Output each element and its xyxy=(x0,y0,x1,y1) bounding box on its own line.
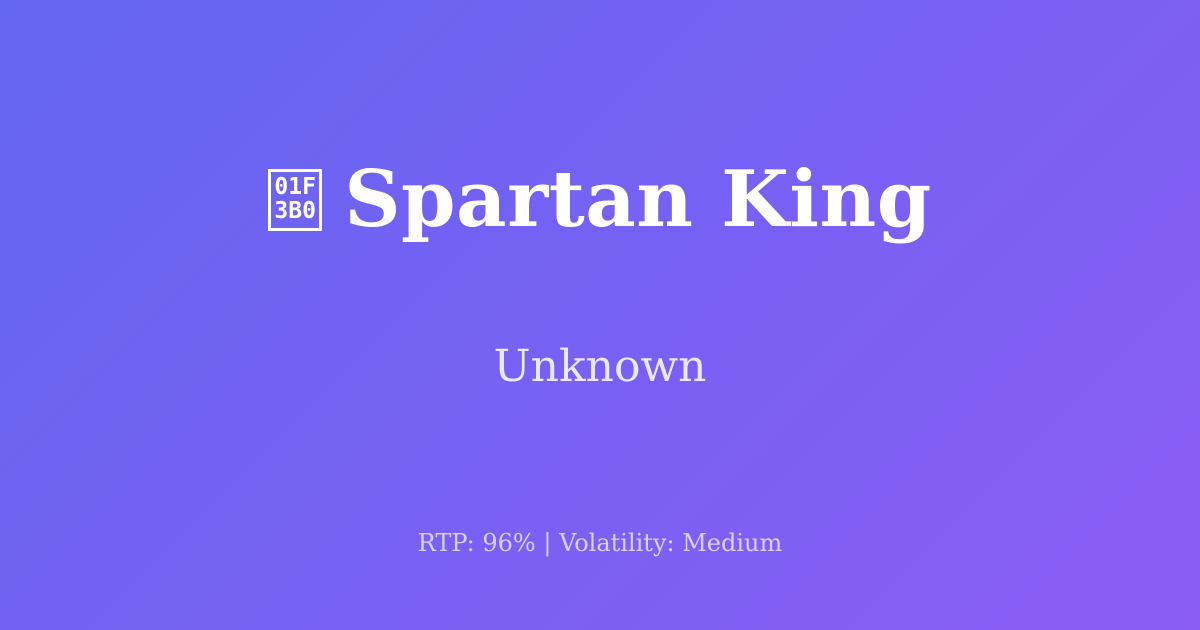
slot-machine-icon-codepoint-high: 01F xyxy=(274,176,316,200)
slot-machine-icon: 01F 3B0 xyxy=(268,169,322,231)
slot-machine-icon-codepoint-low: 3B0 xyxy=(274,200,316,224)
game-stats-line: RTP: 96% | Volatility: Medium xyxy=(0,528,1200,559)
card-center-block: 01F 3B0 Spartan King Unknown xyxy=(0,0,1200,500)
page-title: Spartan King xyxy=(344,159,932,241)
og-share-card: 01F 3B0 Spartan King Unknown RTP: 96% | … xyxy=(0,0,1200,630)
title-row: 01F 3B0 Spartan King xyxy=(268,106,932,292)
page-subtitle: Unknown xyxy=(494,341,707,394)
